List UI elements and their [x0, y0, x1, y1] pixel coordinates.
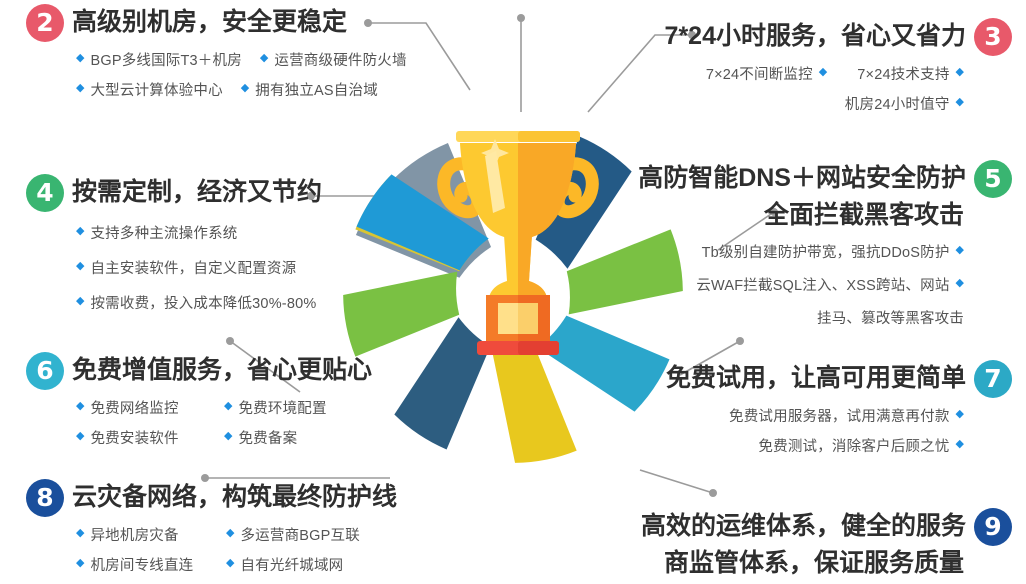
infographic-canvas: 2 高级别机房，安全更稳定 ◆BGP多线国际T3＋机房 ◆运营商级硬件防火墙 ◆… — [0, 0, 1026, 584]
bullet-item: ◆免费测试，消除客户后顾之忧 — [758, 435, 964, 456]
item-5-title-line1: 高防智能DNS＋网站安全防护 — [638, 164, 966, 194]
item-5[interactable]: 高防智能DNS＋网站安全防护 5 全面拦截黑客攻击 ◆Tb级别自建防护带宽，强抗… — [638, 160, 1012, 337]
bullet-row: ◆自主安装软件，自定义配置资源 — [76, 257, 322, 278]
connector-9 — [640, 470, 713, 493]
bullet-item: ◆机房间专线直连 — [76, 554, 196, 575]
bullet-item: ◆免费环境配置 — [224, 397, 327, 418]
item-8[interactable]: 8 云灾备网络，构筑最终防护线 ◆异地机房灾备 ◆多运营商BGP互联 ◆机房间专… — [26, 479, 397, 584]
item-3-bullets: ◆7×24不间断监控 ◆7×24技术支持 ◆机房24小时值守 — [665, 63, 1012, 114]
item-2-bullets: ◆BGP多线国际T3＋机房 ◆运营商级硬件防火墙 ◆大型云计算体验中心 ◆拥有独… — [26, 49, 407, 100]
bullet-row: ◆云WAF拦截SQL注入、XSS跨站、网站 — [638, 274, 964, 295]
bullet-row: ◆7×24不间断监控 ◆7×24技术支持 — [665, 63, 964, 84]
bullet-item: ◆自有光纤城域网 — [226, 554, 343, 575]
bullet-item: ◆多运营商BGP互联 — [226, 524, 360, 545]
diamond-icon: ◆ — [76, 226, 84, 237]
bullet-item: 挂马、篡改等黑客攻击 — [817, 307, 964, 328]
diamond-icon: ◆ — [956, 439, 964, 450]
bullet-item: ◆免费备案 — [224, 427, 297, 448]
item-4[interactable]: 4 按需定制，经济又节约 ◆支持多种主流操作系统 ◆自主安装软件，自定义配置资源… — [26, 174, 322, 322]
bullet-row: ◆大型云计算体验中心 ◆拥有独立AS自治域 — [76, 79, 407, 100]
bullet-row: 挂马、篡改等黑客攻击 — [638, 307, 964, 328]
diamond-icon: ◆ — [956, 67, 964, 78]
bullet-row: ◆免费试用服务器，试用满意再付款 — [666, 405, 964, 426]
badge-3: 3 — [974, 18, 1012, 56]
diamond-icon: ◆ — [260, 53, 268, 64]
bullet-row: ◆异地机房灾备 ◆多运营商BGP互联 — [76, 524, 397, 545]
item-7[interactable]: 免费试用，让高可用更简单 7 ◆免费试用服务器，试用满意再付款 ◆免费测试，消除… — [666, 360, 1012, 465]
badge-8: 8 — [26, 479, 64, 517]
item-4-header: 4 按需定制，经济又节约 — [26, 174, 322, 212]
item-8-bullets: ◆异地机房灾备 ◆多运营商BGP互联 ◆机房间专线直连 ◆自有光纤城域网 — [26, 524, 397, 575]
connector-dot-7 — [736, 337, 744, 345]
item-3-title: 7*24小时服务，省心又省力 — [665, 22, 966, 52]
badge-4: 4 — [26, 174, 64, 212]
bullet-item: ◆BGP多线国际T3＋机房 — [76, 49, 242, 70]
item-3-header: 7*24小时服务，省心又省力 3 — [665, 18, 1012, 56]
bullet-item: ◆Tb级别自建防护带宽，强抗DDoS防护 — [702, 241, 964, 262]
diamond-icon: ◆ — [956, 245, 964, 256]
bullet-row: ◆支持多种主流操作系统 — [76, 222, 322, 243]
bullet-row: ◆BGP多线国际T3＋机房 ◆运营商级硬件防火墙 — [76, 49, 407, 70]
item-2-header: 2 高级别机房，安全更稳定 — [26, 4, 407, 42]
badge-7: 7 — [974, 360, 1012, 398]
diamond-icon: ◆ — [226, 528, 234, 539]
item-4-bullets: ◆支持多种主流操作系统 ◆自主安装软件，自定义配置资源 ◆按需收费，投入成本降低… — [26, 222, 322, 313]
bullet-item: ◆运营商级硬件防火墙 — [260, 49, 407, 70]
item-7-header: 免费试用，让高可用更简单 7 — [666, 360, 1012, 398]
diamond-icon: ◆ — [76, 261, 84, 272]
diamond-icon: ◆ — [76, 53, 84, 64]
badge-5: 5 — [974, 160, 1012, 198]
item-6-title: 免费增值服务，省心更贴心 — [72, 356, 372, 386]
bullet-item: ◆免费安装软件 — [76, 427, 188, 448]
item-8-header: 8 云灾备网络，构筑最终防护线 — [26, 479, 397, 517]
item-5-header: 高防智能DNS＋网站安全防护 5 — [638, 160, 1012, 198]
diamond-icon: ◆ — [76, 401, 84, 412]
badge-9: 9 — [974, 508, 1012, 546]
item-8-title: 云灾备网络，构筑最终防护线 — [72, 483, 397, 513]
diamond-icon: ◆ — [76, 296, 84, 307]
diamond-icon: ◆ — [76, 528, 84, 539]
connector-dot-6 — [226, 337, 234, 345]
diamond-icon: ◆ — [226, 558, 234, 569]
item-5-bullets: ◆Tb级别自建防护带宽，强抗DDoS防护 ◆云WAF拦截SQL注入、XSS跨站、… — [638, 241, 1012, 328]
diamond-icon: ◆ — [76, 558, 84, 569]
connector-dot-9 — [709, 489, 717, 497]
diamond-icon: ◆ — [956, 409, 964, 420]
item-6-bullets: ◆免费网络监控 ◆免费环境配置 ◆免费安装软件 ◆免费备案 — [26, 397, 372, 448]
item-7-title: 免费试用，让高可用更简单 — [666, 364, 966, 394]
bullet-item: ◆大型云计算体验中心 — [76, 79, 223, 100]
bullet-item: ◆7×24不间断监控 — [706, 63, 827, 84]
item-9[interactable]: 高效的运维体系，健全的服务 9 商监管体系，保证服务质量 — [641, 508, 1012, 579]
diamond-icon: ◆ — [819, 67, 827, 78]
item-9-header: 高效的运维体系，健全的服务 9 — [641, 508, 1012, 546]
bullet-row: ◆免费测试，消除客户后顾之忧 — [666, 435, 964, 456]
bullet-item: ◆免费试用服务器，试用满意再付款 — [729, 405, 964, 426]
connector-dot-top — [517, 14, 525, 22]
item-4-title: 按需定制，经济又节约 — [72, 178, 322, 208]
diamond-icon: ◆ — [76, 431, 84, 442]
bullet-row: ◆机房间专线直连 ◆自有光纤城域网 — [76, 554, 397, 575]
item-5-title-line2: 全面拦截黑客攻击 — [638, 201, 1012, 231]
bullet-item: ◆云WAF拦截SQL注入、XSS跨站、网站 — [696, 274, 964, 295]
bullet-item: ◆自主安装软件，自定义配置资源 — [76, 257, 296, 278]
item-9-title-line2: 商监管体系，保证服务质量 — [641, 549, 1012, 579]
diamond-icon: ◆ — [224, 401, 232, 412]
badge-6: 6 — [26, 352, 64, 390]
diamond-icon: ◆ — [76, 83, 84, 94]
bullet-row: ◆机房24小时值守 — [665, 93, 964, 114]
bullet-item: ◆异地机房灾备 — [76, 524, 196, 545]
bullet-row: ◆按需收费，投入成本降低30%-80% — [76, 292, 322, 313]
item-6[interactable]: 6 免费增值服务，省心更贴心 ◆免费网络监控 ◆免费环境配置 ◆免费安装软件 ◆… — [26, 352, 372, 457]
bullet-row: ◆免费安装软件 ◆免费备案 — [76, 427, 372, 448]
diamond-icon: ◆ — [224, 431, 232, 442]
bullet-item: ◆支持多种主流操作系统 — [76, 222, 237, 243]
badge-2: 2 — [26, 4, 64, 42]
bullet-row: ◆免费网络监控 ◆免费环境配置 — [76, 397, 372, 418]
item-3[interactable]: 7*24小时服务，省心又省力 3 ◆7×24不间断监控 ◆7×24技术支持 ◆机… — [665, 18, 1012, 123]
bullet-item: ◆拥有独立AS自治域 — [241, 79, 378, 100]
item-2[interactable]: 2 高级别机房，安全更稳定 ◆BGP多线国际T3＋机房 ◆运营商级硬件防火墙 ◆… — [26, 4, 407, 109]
bullet-item: ◆机房24小时值守 — [845, 93, 964, 114]
bullet-item: ◆7×24技术支持 — [857, 63, 964, 84]
diamond-icon: ◆ — [241, 83, 249, 94]
item-9-title-line1: 高效的运维体系，健全的服务 — [641, 512, 966, 542]
item-2-title: 高级别机房，安全更稳定 — [72, 8, 347, 38]
bullet-row: ◆Tb级别自建防护带宽，强抗DDoS防护 — [638, 241, 964, 262]
bullet-item: ◆免费网络监控 — [76, 397, 188, 418]
item-6-header: 6 免费增值服务，省心更贴心 — [26, 352, 372, 390]
bullet-item: ◆按需收费，投入成本降低30%-80% — [76, 292, 316, 313]
diamond-icon: ◆ — [956, 97, 964, 108]
item-7-bullets: ◆免费试用服务器，试用满意再付款 ◆免费测试，消除客户后顾之忧 — [666, 405, 1012, 456]
diamond-icon: ◆ — [956, 278, 964, 289]
